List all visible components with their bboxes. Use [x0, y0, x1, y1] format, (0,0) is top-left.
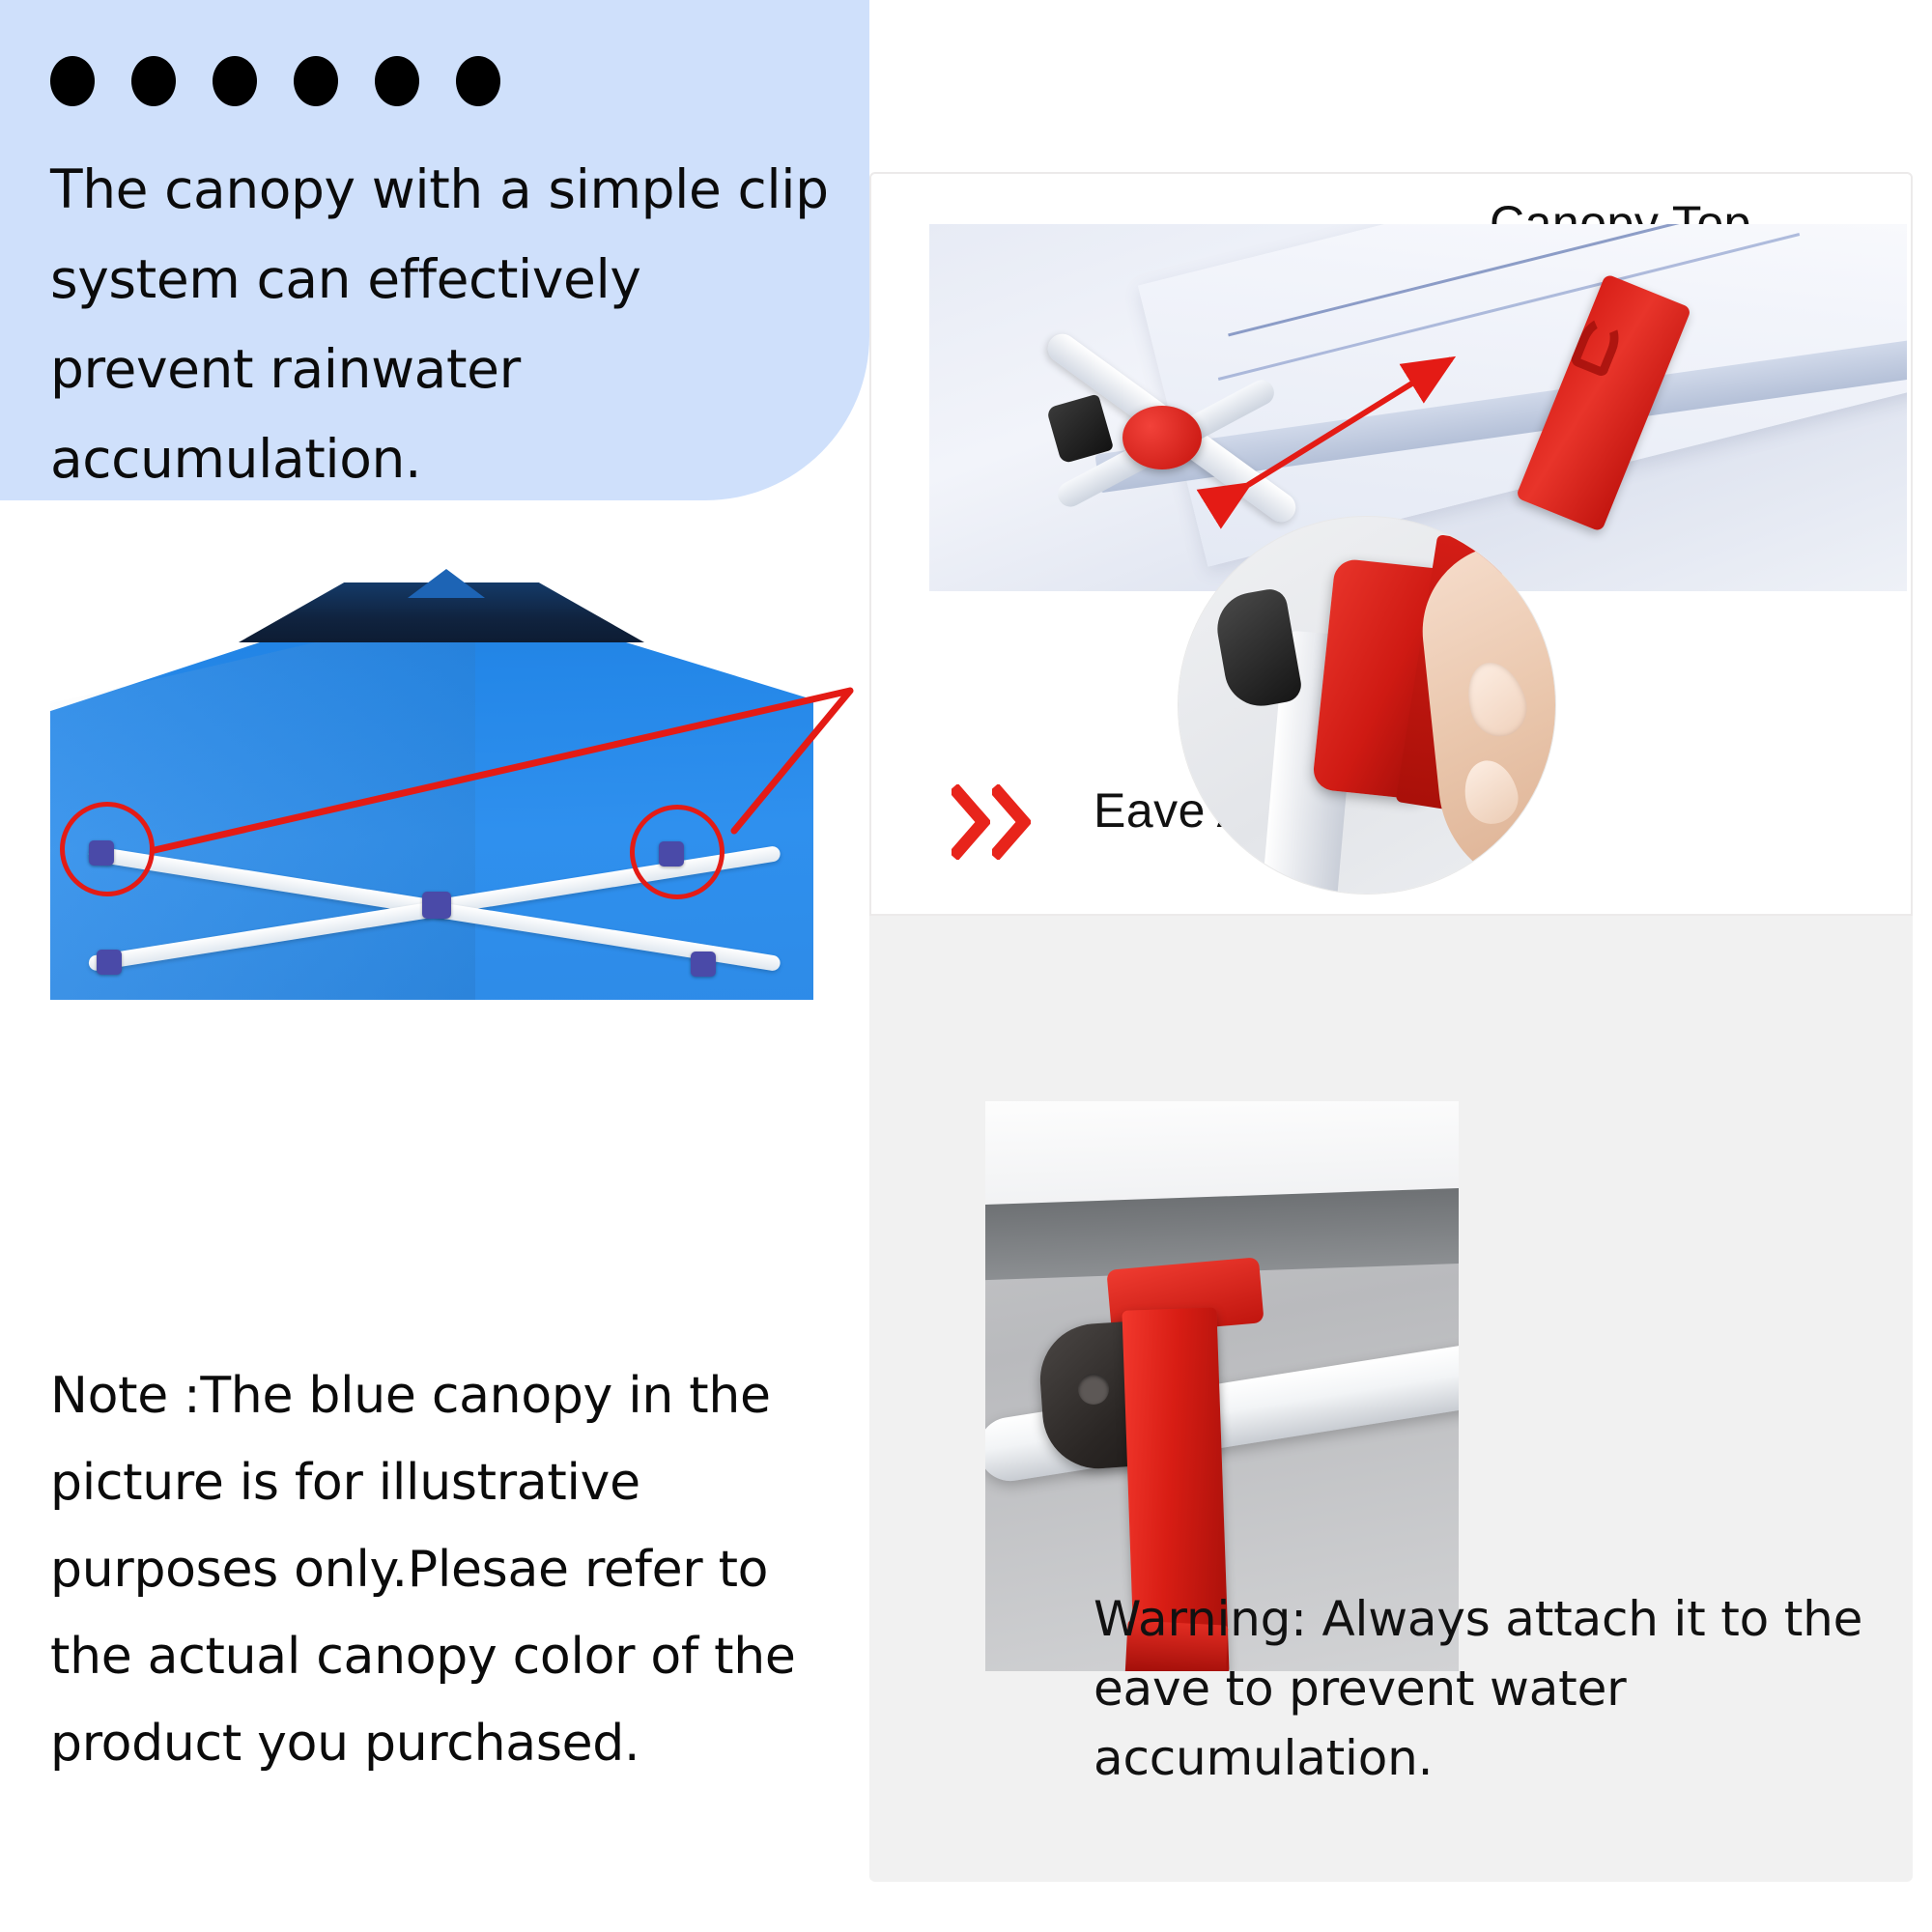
arrow-line — [1248, 359, 1451, 485]
clip-node-center — [422, 892, 451, 919]
warning-panel: Warning: Always attach it to the eave to… — [869, 916, 1913, 1882]
dot-row — [50, 56, 500, 106]
bullet-dot-icon — [50, 56, 95, 106]
chevron-right-icon — [992, 784, 1031, 860]
intro-callout-box: The canopy with a simple clip system can… — [0, 0, 869, 500]
chevron-right-icon — [952, 784, 990, 860]
clip-node — [691, 952, 716, 977]
eave-assembly-circle-photo — [1179, 517, 1555, 894]
highlight-circle-right — [630, 805, 724, 899]
highlight-circle-left — [60, 802, 155, 896]
bullet-dot-icon — [213, 56, 257, 106]
bullet-dot-icon — [294, 56, 338, 106]
bullet-dot-icon — [131, 56, 176, 106]
clip-node — [97, 950, 122, 975]
black-clip-housing — [1211, 586, 1303, 711]
progression-arrow — [952, 784, 1031, 860]
illustrative-note-text: Note :The blue canopy in the picture is … — [50, 1352, 842, 1787]
bullet-dot-icon — [456, 56, 500, 106]
warning-text: Warning: Always attach it to the eave to… — [1094, 1584, 1876, 1793]
clip-rivet — [1078, 1374, 1109, 1405]
blue-canopy-photo — [50, 555, 813, 1000]
intro-heading-text: The canopy with a simple clip system can… — [50, 145, 852, 504]
bullet-dot-icon — [375, 56, 419, 106]
